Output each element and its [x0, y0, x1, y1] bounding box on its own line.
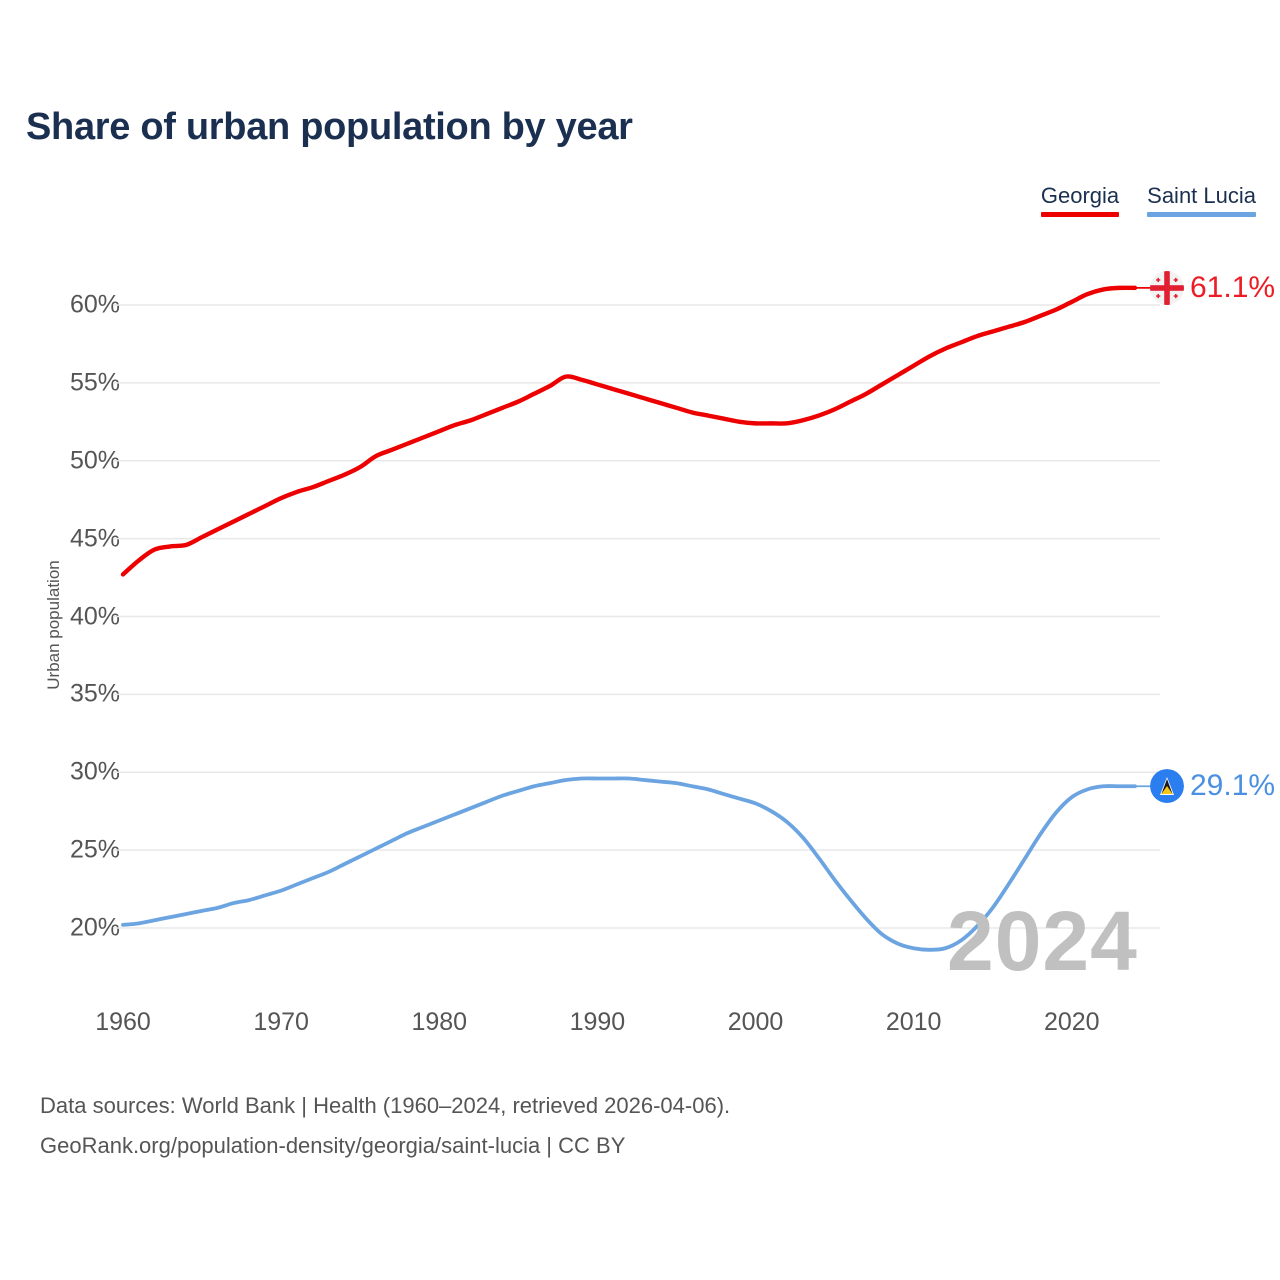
y-axis-tick-label: 50% [0, 446, 120, 475]
georgia-endpoint: 61.1% [1150, 271, 1275, 305]
y-axis-tick-label: 20% [0, 914, 120, 943]
legend-label-georgia: Georgia [1041, 183, 1119, 209]
x-axis-tick-label: 1960 [95, 1008, 151, 1037]
y-axis-tick-label: 60% [0, 291, 120, 320]
georgia-endpoint-value: 61.1% [1190, 271, 1275, 305]
footer-line-2: GeoRank.org/population-density/georgia/s… [40, 1126, 730, 1166]
x-axis-tick-label: 1970 [253, 1008, 309, 1037]
saint-lucia-flag-icon [1150, 769, 1184, 803]
x-axis-tick-label: 2020 [1044, 1008, 1100, 1037]
x-axis-tick-label: 1990 [570, 1008, 626, 1037]
y-axis-tick-label: 25% [0, 836, 120, 865]
x-axis-tick-label: 2000 [728, 1008, 784, 1037]
y-axis-title: Urban population [44, 525, 64, 725]
chart-legend: Georgia Saint Lucia [1041, 183, 1256, 217]
footer-sources: Data sources: World Bank | Health (1960–… [40, 1086, 730, 1166]
saint-lucia-endpoint: 29.1% [1150, 769, 1275, 803]
x-axis-tick-label: 1980 [411, 1008, 467, 1037]
series-lines [123, 288, 1135, 950]
georgia-flag-icon [1150, 271, 1184, 305]
saint-lucia-endpoint-value: 29.1% [1190, 769, 1275, 803]
legend-swatch-georgia [1041, 212, 1119, 217]
endpoint-connectors [1135, 288, 1152, 786]
legend-item-saint-lucia[interactable]: Saint Lucia [1147, 183, 1256, 217]
y-axis-tick-label: 30% [0, 758, 120, 787]
footer-line-1: Data sources: World Bank | Health (1960–… [40, 1086, 730, 1126]
legend-swatch-saint-lucia [1147, 212, 1256, 217]
chart-page: Share of urban population by year Georgi… [0, 0, 1280, 1280]
legend-item-georgia[interactable]: Georgia [1041, 183, 1119, 217]
legend-label-saint-lucia: Saint Lucia [1147, 183, 1256, 209]
series-line-georgia [123, 288, 1135, 575]
x-axis-tick-label: 2010 [886, 1008, 942, 1037]
y-axis-tick-label: 55% [0, 368, 120, 397]
gridlines [113, 305, 1160, 928]
year-watermark: 2024 [947, 893, 1138, 990]
